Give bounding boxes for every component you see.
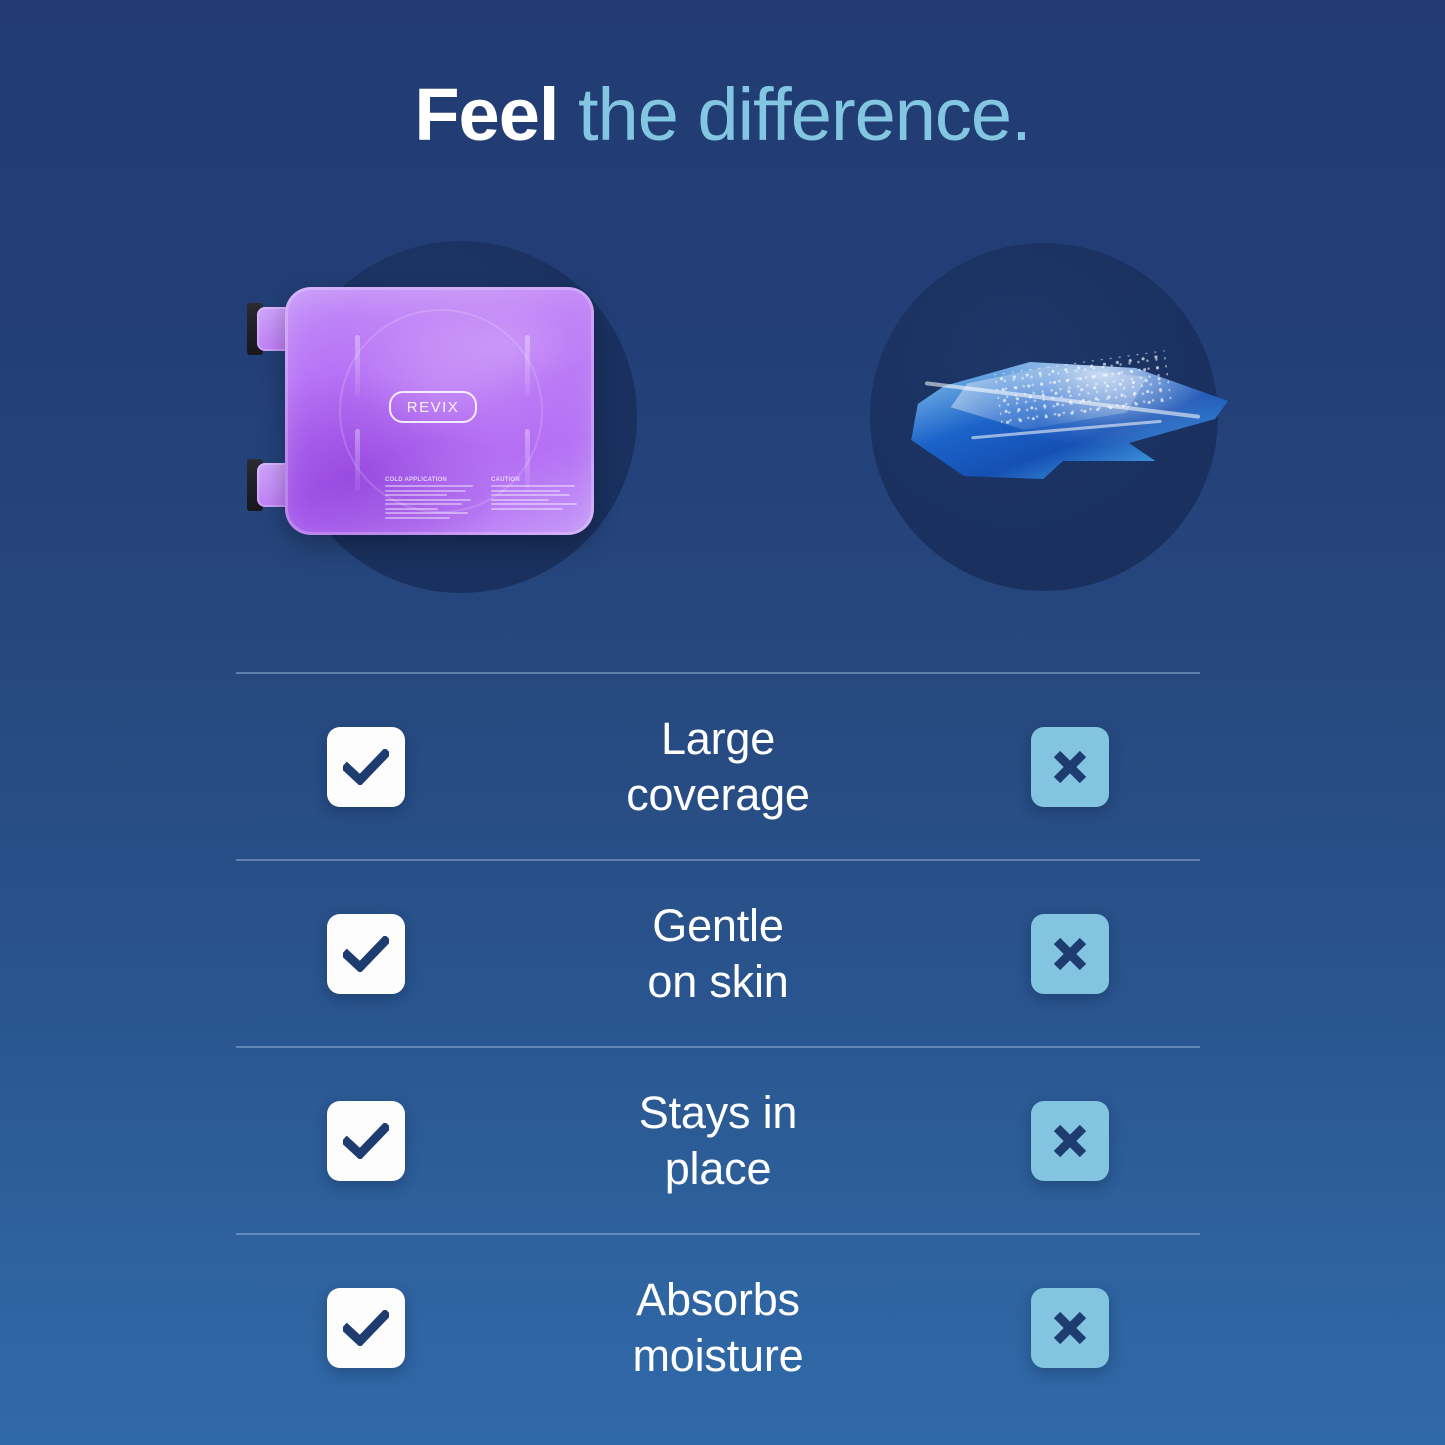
instruction-block-caution: CAUTION bbox=[491, 477, 579, 521]
check-icon bbox=[327, 914, 405, 994]
revix-gel-ice-pack-illustration: REVIX COLD APPLICATION bbox=[247, 287, 594, 535]
instruction-text-line bbox=[385, 485, 473, 487]
pack-rib bbox=[355, 335, 360, 397]
table-row: Absorbs moisture bbox=[236, 1235, 1200, 1420]
feature-label-line2: on skin bbox=[496, 954, 940, 1010]
instruction-text-line bbox=[385, 490, 466, 492]
instruction-text-line bbox=[491, 508, 563, 510]
feature-label-line1: Large bbox=[661, 713, 775, 764]
page-title-accent: the difference. bbox=[558, 73, 1030, 156]
cell-ours bbox=[236, 1288, 496, 1368]
pack-rib bbox=[525, 335, 530, 397]
feature-label-line1: Stays in bbox=[639, 1087, 797, 1138]
brand-logo: REVIX bbox=[389, 391, 477, 423]
instruction-heading: COLD APPLICATION bbox=[385, 477, 473, 483]
instruction-text-line bbox=[385, 494, 447, 496]
cell-competitor bbox=[940, 914, 1200, 994]
instruction-text-line bbox=[385, 508, 438, 510]
table-row: Stays in place bbox=[236, 1048, 1200, 1233]
product-comparison-infographic: Feel the difference. REVIX bbox=[0, 0, 1445, 1445]
feature-label-line2: coverage bbox=[496, 767, 940, 823]
cross-icon bbox=[1031, 1288, 1109, 1368]
check-icon bbox=[327, 1101, 405, 1181]
pack-instruction-text: COLD APPLICATION CAUTION bbox=[385, 477, 579, 521]
cell-feature-label: Large coverage bbox=[496, 711, 940, 823]
instruction-text-line bbox=[491, 485, 575, 487]
instruction-text-line bbox=[491, 503, 577, 505]
product-image-ours: REVIX COLD APPLICATION bbox=[180, 225, 650, 615]
instruction-text-line bbox=[491, 490, 560, 492]
generic-gel-ice-bag-illustration bbox=[898, 335, 1228, 485]
cell-ours bbox=[236, 914, 496, 994]
cell-ours bbox=[236, 1101, 496, 1181]
instruction-text-line bbox=[385, 499, 471, 501]
cross-icon bbox=[1031, 1101, 1109, 1181]
cell-competitor bbox=[940, 1101, 1200, 1181]
pack-rib bbox=[355, 429, 360, 491]
cell-competitor bbox=[940, 1288, 1200, 1368]
feature-label-line1: Absorbs bbox=[636, 1274, 800, 1325]
product-image-competitor bbox=[840, 225, 1250, 615]
hero-image-row: REVIX COLD APPLICATION bbox=[0, 225, 1445, 615]
cell-feature-label: Absorbs moisture bbox=[496, 1272, 940, 1384]
page-title: Feel the difference. bbox=[0, 78, 1445, 152]
instruction-text-line bbox=[491, 499, 549, 501]
feature-label-line2: place bbox=[496, 1141, 940, 1197]
instruction-block-cold-application: COLD APPLICATION bbox=[385, 477, 473, 521]
instruction-text-line bbox=[385, 517, 450, 519]
instruction-text-line bbox=[385, 512, 468, 514]
comparison-table: Large coverage bbox=[236, 672, 1200, 1420]
instruction-heading: CAUTION bbox=[491, 477, 579, 483]
check-icon bbox=[327, 727, 405, 807]
cell-competitor bbox=[940, 727, 1200, 807]
feature-label-line2: moisture bbox=[496, 1328, 940, 1384]
cell-feature-label: Stays in place bbox=[496, 1085, 940, 1197]
check-icon bbox=[327, 1288, 405, 1368]
pack-body: REVIX COLD APPLICATION bbox=[285, 287, 594, 535]
cross-icon bbox=[1031, 727, 1109, 807]
instruction-text-line bbox=[491, 494, 570, 496]
instruction-text-line bbox=[385, 503, 462, 505]
feature-label-line1: Gentle bbox=[652, 900, 783, 951]
page-title-primary: Feel bbox=[414, 73, 558, 156]
table-row: Gentle on skin bbox=[236, 861, 1200, 1046]
cell-ours bbox=[236, 727, 496, 807]
cross-icon bbox=[1031, 914, 1109, 994]
cell-feature-label: Gentle on skin bbox=[496, 898, 940, 1010]
table-row: Large coverage bbox=[236, 674, 1200, 859]
